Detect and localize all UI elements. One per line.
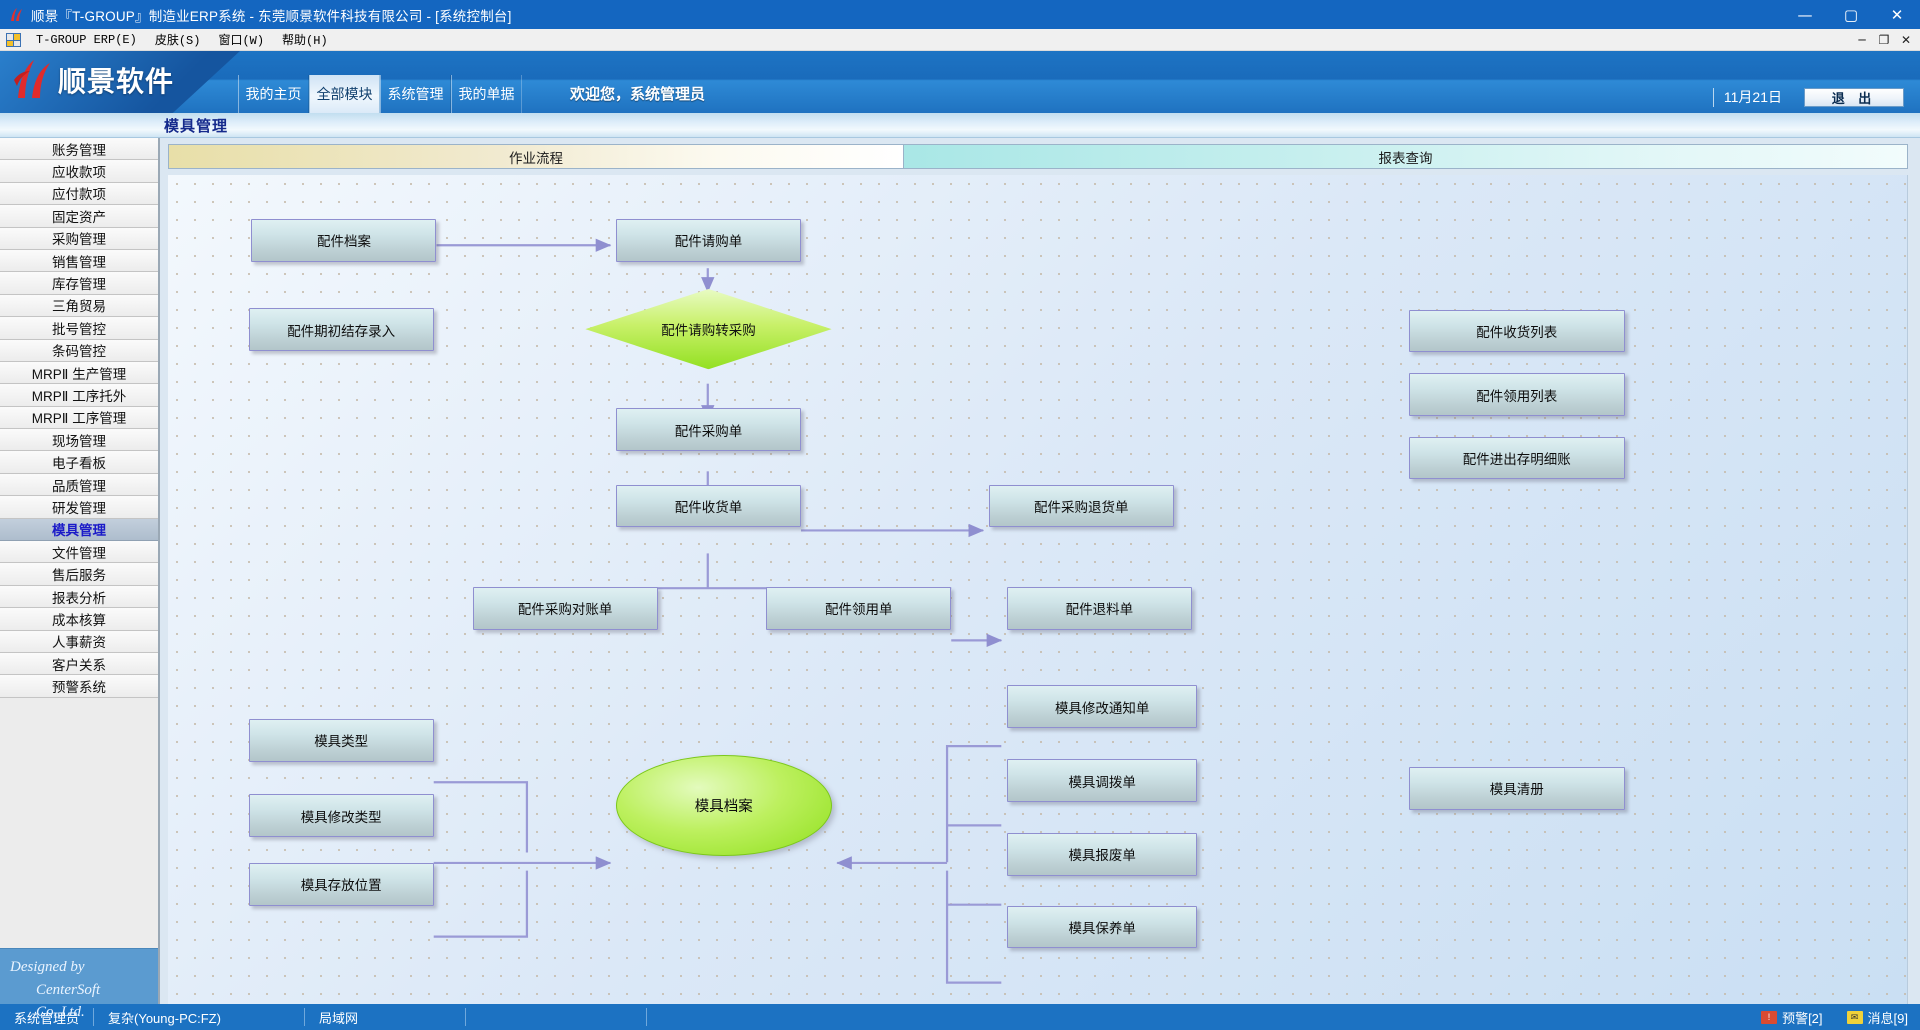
flow-node-n8[interactable]: 配件采购对账单 bbox=[473, 587, 658, 630]
sidebar-item-17[interactable]: 模具管理 bbox=[0, 519, 158, 541]
flowchart-canvas: 配件档案配件请购单配件期初结存录入配件请购转采购配件采购单配件收货单配件采购退货… bbox=[168, 175, 1908, 1004]
sidebar-item-label: 采购管理 bbox=[52, 228, 106, 248]
flow-node-label: 配件采购对账单 bbox=[518, 598, 613, 618]
mail-icon: ✉ bbox=[1847, 1011, 1863, 1024]
flow-node-n20[interactable]: 模具报废单 bbox=[1007, 833, 1198, 876]
flow-node-label: 配件采购单 bbox=[675, 420, 743, 440]
sidebar-item-list: 账务管理应收款项应付款项固定资产采购管理销售管理库存管理三角贸易批号管控条码管控… bbox=[0, 138, 158, 698]
flow-node-label: 配件采购退货单 bbox=[1034, 496, 1129, 516]
menu-bar: T-GROUP ERP(E) 皮肤(S) 窗口(W) 帮助(H) ─ ❐ ✕ bbox=[0, 29, 1920, 51]
flow-node-label: 模具修改类型 bbox=[301, 806, 382, 826]
sidebar-item-8[interactable]: 批号管控 bbox=[0, 317, 158, 339]
flow-node-label: 配件收货单 bbox=[675, 496, 743, 516]
window-title-bar: 顺景『T-GROUP』制造业ERP系统 - 东莞顺景软件科技有限公司 - [系统… bbox=[0, 0, 1920, 29]
flow-node-label: 模具调拨单 bbox=[1068, 771, 1136, 791]
flow-node-label: 模具保养单 bbox=[1068, 917, 1136, 937]
flow-node-label: 模具存放位置 bbox=[301, 874, 382, 894]
brand-name: 顺景软件 bbox=[58, 60, 174, 100]
nav-tab-system-admin[interactable]: 系统管理 bbox=[380, 75, 451, 113]
sidebar-item-6[interactable]: 库存管理 bbox=[0, 272, 158, 294]
flow-node-n13[interactable]: 配件进出存明细账 bbox=[1409, 437, 1625, 480]
sidebar-item-22[interactable]: 人事薪资 bbox=[0, 631, 158, 653]
menu-item-help[interactable]: 帮助(H) bbox=[273, 29, 337, 50]
flow-node-label: 配件领用列表 bbox=[1476, 385, 1557, 405]
content-panel: 作业流程 报表查询 bbox=[160, 138, 1920, 1004]
page-title: 模具管理 bbox=[164, 115, 228, 136]
flow-node-n14[interactable]: 模具类型 bbox=[249, 719, 434, 762]
logout-button[interactable]: 退 出 bbox=[1804, 88, 1904, 107]
tab-report-query[interactable]: 报表查询 bbox=[904, 145, 1907, 168]
flow-node-n11[interactable]: 配件收货列表 bbox=[1409, 310, 1625, 353]
flow-node-label: 配件档案 bbox=[317, 230, 371, 250]
mdi-restore-button[interactable]: ❐ bbox=[1874, 31, 1894, 49]
sidebar-item-1[interactable]: 应收款项 bbox=[0, 160, 158, 182]
welcome-message: 欢迎您，系统管理员 bbox=[570, 83, 705, 104]
sidebar-item-10[interactable]: MRPⅡ 生产管理 bbox=[0, 362, 158, 384]
sidebar-item-16[interactable]: 研发管理 bbox=[0, 496, 158, 518]
flow-node-n16[interactable]: 模具存放位置 bbox=[249, 863, 434, 906]
status-bar: 系统管理员 复杂(Young-PC:FZ) 局域网 ! 预警[2] ✉ 消息[9… bbox=[0, 1004, 1920, 1030]
flow-node-label: 配件期初结存录入 bbox=[287, 320, 395, 340]
mdi-close-button[interactable]: ✕ bbox=[1896, 31, 1916, 49]
status-network: 局域网 bbox=[305, 1004, 465, 1030]
sidebar-item-23[interactable]: 客户关系 bbox=[0, 653, 158, 675]
flow-node-n4[interactable]: 配件请购转采购 bbox=[585, 289, 831, 369]
status-blank bbox=[466, 1004, 646, 1030]
sidebar-item-label: 成本核算 bbox=[52, 609, 106, 629]
header-divider bbox=[1713, 88, 1714, 107]
sidebar-item-7[interactable]: 三角贸易 bbox=[0, 295, 158, 317]
sidebar-item-label: MRPⅡ 生产管理 bbox=[32, 363, 126, 383]
menu-item-erp[interactable]: T-GROUP ERP(E) bbox=[27, 31, 146, 49]
company-mark-icon bbox=[10, 58, 54, 102]
flow-node-n17[interactable]: 模具档案 bbox=[616, 755, 832, 856]
sidebar-item-label: 人事薪资 bbox=[52, 631, 106, 651]
flow-node-label: 配件请购单 bbox=[675, 230, 743, 250]
flow-node-n21[interactable]: 模具保养单 bbox=[1007, 906, 1198, 949]
flow-node-n15[interactable]: 模具修改类型 bbox=[249, 794, 434, 837]
mdi-minimize-button[interactable]: ─ bbox=[1852, 31, 1872, 49]
app-header: 顺景软件 我的主页 全部模块 系统管理 我的单据 欢迎您，系统管理员 11月21… bbox=[0, 51, 1920, 113]
sidebar-item-18[interactable]: 文件管理 bbox=[0, 541, 158, 563]
current-date: 11月21日 bbox=[1724, 87, 1782, 107]
status-message[interactable]: ✉ 消息[9] bbox=[1835, 1004, 1920, 1030]
status-alert-label: 预警[2] bbox=[1782, 1008, 1822, 1027]
main-area: 账务管理应收款项应付款项固定资产采购管理销售管理库存管理三角贸易批号管控条码管控… bbox=[0, 138, 1920, 1004]
close-button[interactable]: ✕ bbox=[1874, 0, 1920, 29]
sidebar-item-0[interactable]: 账务管理 bbox=[0, 138, 158, 160]
sidebar-item-12[interactable]: MRPⅡ 工序管理 bbox=[0, 407, 158, 429]
sidebar-item-20[interactable]: 报表分析 bbox=[0, 586, 158, 608]
sidebar-item-label: 研发管理 bbox=[52, 497, 106, 517]
sidebar-item-11[interactable]: MRPⅡ 工序托外 bbox=[0, 384, 158, 406]
sidebar-item-label: 三角贸易 bbox=[52, 295, 106, 315]
header-nav-tabs: 我的主页 全部模块 系统管理 我的单据 bbox=[238, 75, 522, 113]
sidebar-item-label: 电子看板 bbox=[52, 452, 106, 472]
designed-by-line2: CenterSoft Co.,Ltd. bbox=[10, 979, 150, 1024]
content-tabs: 作业流程 报表查询 bbox=[168, 144, 1908, 169]
sidebar-item-label: 批号管控 bbox=[52, 318, 106, 338]
brand-logo: 顺景软件 bbox=[10, 58, 174, 102]
sidebar-item-label: 售后服务 bbox=[52, 564, 106, 584]
flow-node-label: 配件进出存明细账 bbox=[1463, 448, 1571, 468]
sidebar-item-label: 应付款项 bbox=[52, 183, 106, 203]
flow-node-n12[interactable]: 配件领用列表 bbox=[1409, 373, 1625, 416]
tab-work-flow[interactable]: 作业流程 bbox=[169, 145, 904, 168]
sidebar-item-2[interactable]: 应付款项 bbox=[0, 183, 158, 205]
sidebar-item-19[interactable]: 售后服务 bbox=[0, 563, 158, 585]
flow-node-n18[interactable]: 模具修改通知单 bbox=[1007, 685, 1198, 728]
flow-node-label: 模具报废单 bbox=[1068, 844, 1136, 864]
sidebar-item-15[interactable]: 品质管理 bbox=[0, 474, 158, 496]
sidebar-item-4[interactable]: 采购管理 bbox=[0, 228, 158, 250]
sidebar-item-label: 文件管理 bbox=[52, 542, 106, 562]
app-logo-icon bbox=[8, 7, 24, 23]
window-controls: — ▢ ✕ bbox=[1782, 0, 1920, 29]
nav-tab-home[interactable]: 我的主页 bbox=[238, 75, 309, 113]
flow-node-label: 配件收货列表 bbox=[1476, 321, 1557, 341]
sidebar-item-label: MRPⅡ 工序托外 bbox=[32, 385, 126, 405]
nav-tab-all-modules[interactable]: 全部模块 bbox=[309, 75, 380, 113]
status-alert[interactable]: ! 预警[2] bbox=[1749, 1004, 1834, 1030]
sidebar-item-9[interactable]: 条码管控 bbox=[0, 340, 158, 362]
sidebar-item-label: 账务管理 bbox=[52, 139, 106, 159]
sidebar-item-label: 现场管理 bbox=[52, 430, 106, 450]
flow-node-label: 模具档案 bbox=[695, 795, 753, 816]
sidebar-item-24[interactable]: 预警系统 bbox=[0, 675, 158, 697]
flow-node-n9[interactable]: 配件领用单 bbox=[766, 587, 951, 630]
maximize-button[interactable]: ▢ bbox=[1828, 0, 1874, 29]
status-message-label: 消息[9] bbox=[1868, 1008, 1908, 1027]
flow-node-n1[interactable]: 配件档案 bbox=[251, 219, 436, 262]
alert-icon: ! bbox=[1761, 1011, 1777, 1024]
sidebar-item-label: 应收款项 bbox=[52, 161, 106, 181]
flow-node-label: 配件请购转采购 bbox=[661, 319, 756, 339]
sidebar-footer: Designed by CenterSoft Co.,Ltd. bbox=[0, 948, 158, 1004]
sidebar-item-21[interactable]: 成本核算 bbox=[0, 608, 158, 630]
flow-node-n2[interactable]: 配件请购单 bbox=[616, 219, 801, 262]
minimize-button[interactable]: — bbox=[1782, 0, 1828, 29]
sidebar-item-3[interactable]: 固定资产 bbox=[0, 205, 158, 227]
flow-node-label: 模具类型 bbox=[314, 730, 368, 750]
status-sep-4 bbox=[646, 1008, 647, 1026]
flow-node-n10[interactable]: 配件退料单 bbox=[1007, 587, 1192, 630]
header-right-group: 11月21日 退 出 bbox=[1713, 87, 1904, 107]
flow-node-label: 配件退料单 bbox=[1066, 598, 1134, 618]
sidebar-item-label: 销售管理 bbox=[52, 251, 106, 271]
flow-node-n22[interactable]: 模具清册 bbox=[1409, 767, 1625, 810]
flow-node-n3[interactable]: 配件期初结存录入 bbox=[249, 308, 434, 351]
sidebar-item-label: 库存管理 bbox=[52, 273, 106, 293]
flow-node-n5[interactable]: 配件采购单 bbox=[616, 408, 801, 451]
sidebar-item-label: 品质管理 bbox=[52, 475, 106, 495]
window-title-text: 顺景『T-GROUP』制造业ERP系统 - 东莞顺景软件科技有限公司 - [系统… bbox=[31, 5, 512, 25]
sidebar-item-label: 客户关系 bbox=[52, 654, 106, 674]
sidebar-item-label: 固定资产 bbox=[52, 206, 106, 226]
sidebar-item-13[interactable]: 现场管理 bbox=[0, 429, 158, 451]
sidebar-item-label: 预警系统 bbox=[52, 676, 106, 696]
sidebar-item-5[interactable]: 销售管理 bbox=[0, 250, 158, 272]
sidebar-item-14[interactable]: 电子看板 bbox=[0, 451, 158, 473]
flow-node-label: 模具修改通知单 bbox=[1055, 697, 1150, 717]
flow-node-n19[interactable]: 模具调拨单 bbox=[1007, 759, 1198, 802]
sidebar-filler bbox=[0, 698, 158, 948]
flow-node-n7[interactable]: 配件采购退货单 bbox=[989, 485, 1174, 528]
sidebar-item-label: 报表分析 bbox=[52, 587, 106, 607]
nav-tab-my-documents[interactable]: 我的单据 bbox=[451, 75, 522, 113]
flow-node-label: 配件领用单 bbox=[825, 598, 893, 618]
sidebar-item-label: 模具管理 bbox=[52, 519, 106, 539]
flow-node-n6[interactable]: 配件收货单 bbox=[616, 485, 801, 528]
page-title-strip: 模具管理 bbox=[0, 113, 1920, 138]
mdi-window-controls: ─ ❐ ✕ bbox=[1852, 29, 1916, 51]
mdi-window-icon bbox=[6, 33, 21, 47]
module-sidebar: 账务管理应收款项应付款项固定资产采购管理销售管理库存管理三角贸易批号管控条码管控… bbox=[0, 138, 160, 1004]
designed-by-line1: Designed by bbox=[10, 956, 150, 979]
menu-item-skin[interactable]: 皮肤(S) bbox=[146, 29, 210, 50]
sidebar-item-label: MRPⅡ 工序管理 bbox=[32, 407, 126, 427]
sidebar-item-label: 条码管控 bbox=[52, 340, 106, 360]
flow-node-label: 模具清册 bbox=[1490, 778, 1544, 798]
menu-item-window[interactable]: 窗口(W) bbox=[209, 29, 273, 50]
